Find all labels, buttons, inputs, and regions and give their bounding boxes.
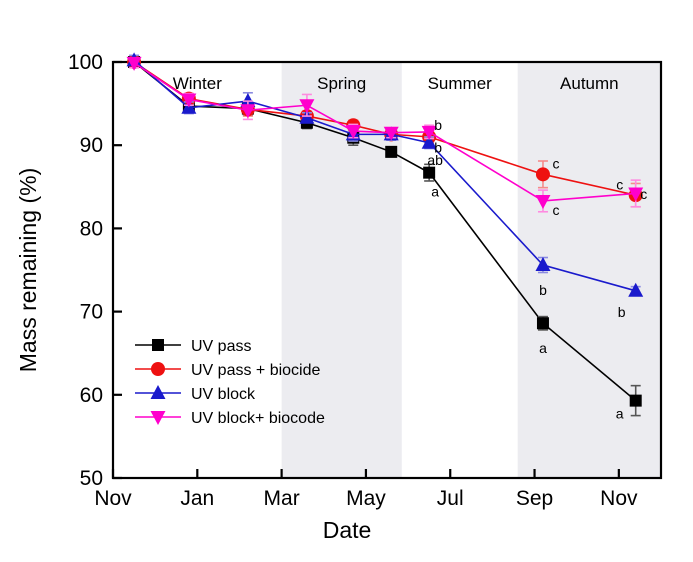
season-label-summer: Summer: [428, 74, 493, 93]
significance-label-10: b: [618, 304, 626, 320]
legend-label: UV pass: [191, 338, 251, 355]
significance-label-7: a: [539, 340, 547, 356]
x-tick-label-0: Nov: [94, 487, 132, 510]
significance-label-3: a: [431, 184, 439, 200]
x-axis-title: Date: [323, 517, 372, 543]
y-tick-label-60: 60: [80, 384, 103, 407]
y-tick-label-90: 90: [80, 134, 103, 157]
significance-label-2: ab: [427, 152, 443, 168]
x-tick-label-3: May: [346, 487, 386, 510]
data-point-marker: [423, 167, 435, 179]
x-tick-label-2: Mar: [264, 487, 300, 510]
chart-figure: WinterSpringSummerAutumn1009080706050Nov…: [0, 0, 693, 562]
significance-label-11: a: [616, 406, 624, 422]
x-tick-label-4: Jul: [437, 487, 464, 510]
legend-label: UV block: [191, 386, 256, 403]
y-axis-title: Mass remaining (%): [15, 168, 41, 373]
significance-label-0: b: [434, 117, 442, 133]
season-label-autumn: Autumn: [560, 74, 619, 93]
x-tick-label-6: Nov: [600, 487, 638, 510]
legend-label: UV pass + biocide: [191, 362, 321, 379]
x-tick-label-1: Jan: [180, 487, 214, 510]
significance-label-9: c: [640, 186, 647, 202]
legend-entry-uv-pass[interactable]: UV pass: [135, 338, 251, 355]
season-label-winter: Winter: [173, 74, 222, 93]
significance-label-6: b: [539, 282, 547, 298]
legend-label: UV block+ biocode: [191, 410, 325, 427]
significance-label-4: c: [552, 155, 559, 171]
significance-label-5: c: [552, 202, 559, 218]
data-point-marker: [152, 339, 164, 351]
significance-label-8: c: [616, 176, 623, 192]
x-tick-label-5: Sep: [516, 487, 553, 510]
data-point-marker: [151, 362, 165, 376]
legend-entry-uv-pass-biocide[interactable]: UV pass + biocide: [135, 362, 321, 379]
legend-entry-uv-block-biocode[interactable]: UV block+ biocode: [135, 410, 325, 427]
legend-entry-uv-block[interactable]: UV block: [135, 385, 256, 403]
y-tick-label-100: 100: [68, 51, 103, 74]
data-point-marker: [385, 146, 397, 158]
data-point-marker: [151, 411, 166, 425]
data-point-marker: [151, 385, 166, 399]
mass-remaining-line-chart: WinterSpringSummerAutumn1009080706050Nov…: [0, 0, 693, 562]
y-tick-label-80: 80: [80, 217, 103, 240]
data-point-marker: [630, 395, 642, 407]
season-label-spring: Spring: [317, 74, 366, 93]
y-tick-label-70: 70: [80, 301, 103, 324]
data-point-marker: [537, 317, 549, 329]
data-point-marker: [536, 167, 550, 181]
